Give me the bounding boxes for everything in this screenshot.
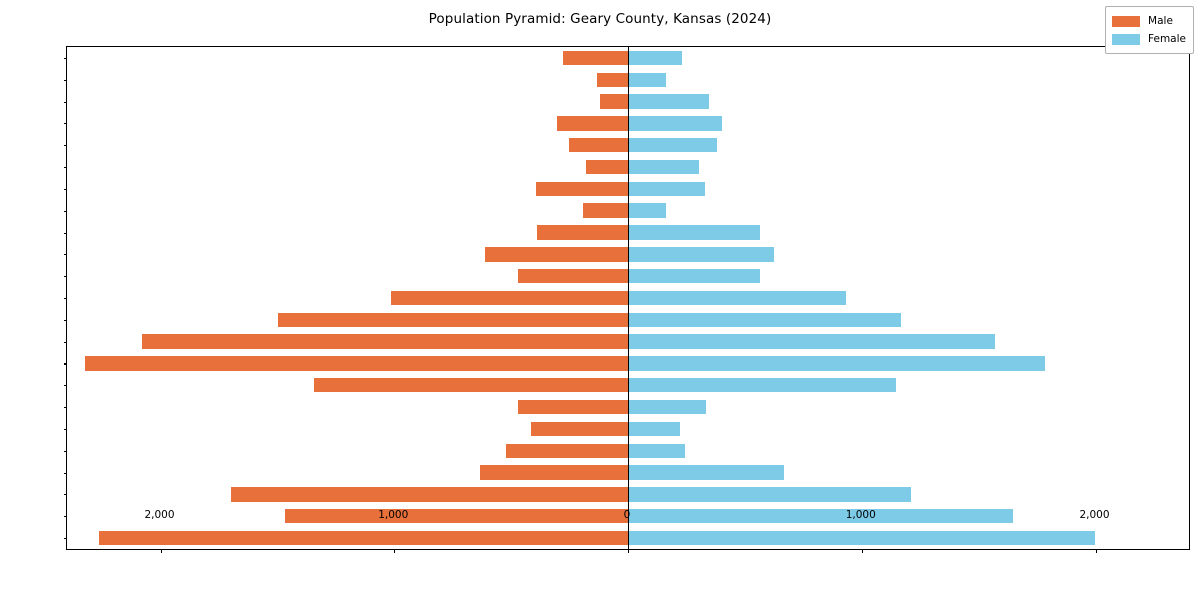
bar-female bbox=[628, 400, 706, 414]
bar-male bbox=[536, 182, 628, 196]
bar-male bbox=[285, 509, 628, 523]
plot-area bbox=[66, 46, 1190, 550]
bar-female bbox=[628, 487, 911, 501]
bar-male bbox=[597, 73, 628, 87]
legend-swatch-male-icon bbox=[1112, 16, 1140, 27]
bar-female bbox=[628, 225, 760, 239]
y-tick-mark bbox=[64, 516, 68, 517]
x-tick-mark bbox=[394, 549, 395, 553]
bar-male bbox=[600, 94, 628, 108]
y-tick-mark bbox=[64, 276, 68, 277]
bar-female bbox=[628, 291, 846, 305]
bar-male bbox=[99, 531, 628, 545]
bar-female bbox=[628, 313, 901, 327]
x-tick-label: 1,000 bbox=[378, 509, 408, 521]
legend-label-female: Female bbox=[1148, 33, 1186, 45]
bar-male bbox=[85, 356, 628, 370]
chart-title: Population Pyramid: Geary County, Kansas… bbox=[0, 11, 1200, 27]
y-tick-mark bbox=[64, 385, 68, 386]
legend: Male Female bbox=[1105, 6, 1194, 54]
bar-female bbox=[628, 422, 680, 436]
zero-axis-line bbox=[628, 47, 629, 549]
legend-entry-female: Female bbox=[1112, 30, 1186, 48]
bar-male bbox=[563, 51, 628, 65]
bar-female bbox=[628, 73, 666, 87]
bar-male bbox=[518, 400, 628, 414]
bar-male bbox=[142, 334, 628, 348]
y-tick-mark bbox=[64, 538, 68, 539]
bar-female bbox=[628, 334, 995, 348]
y-tick-mark bbox=[64, 473, 68, 474]
bar-male bbox=[518, 269, 628, 283]
y-tick-mark bbox=[64, 298, 68, 299]
bar-female bbox=[628, 465, 784, 479]
x-tick-mark bbox=[161, 549, 162, 553]
y-tick-mark bbox=[64, 211, 68, 212]
bar-female bbox=[628, 160, 699, 174]
figure-canvas: Population Pyramid: Geary County, Kansas… bbox=[0, 0, 1200, 600]
y-tick-mark bbox=[64, 145, 68, 146]
bar-male bbox=[278, 313, 628, 327]
legend-entry-male: Male bbox=[1112, 12, 1186, 30]
x-tick-label: 2,000 bbox=[144, 509, 174, 521]
bar-male bbox=[231, 487, 628, 501]
y-tick-mark bbox=[64, 102, 68, 103]
x-tick-label: 2,000 bbox=[1079, 509, 1109, 521]
bar-female bbox=[628, 509, 1013, 523]
bar-male bbox=[569, 138, 628, 152]
bar-male bbox=[586, 160, 628, 174]
y-tick-mark bbox=[64, 451, 68, 452]
y-tick-mark bbox=[64, 254, 68, 255]
bar-female bbox=[628, 94, 709, 108]
bar-female bbox=[628, 444, 685, 458]
y-tick-mark bbox=[64, 429, 68, 430]
bar-male bbox=[506, 444, 628, 458]
x-tick-label: 0 bbox=[624, 509, 631, 521]
x-tick-label: 1,000 bbox=[846, 509, 876, 521]
x-tick-mark bbox=[1096, 549, 1097, 553]
y-tick-mark bbox=[64, 342, 68, 343]
y-tick-mark bbox=[64, 123, 68, 124]
bar-female bbox=[628, 247, 774, 261]
y-tick-mark bbox=[64, 494, 68, 495]
bar-female bbox=[628, 269, 760, 283]
x-tick-mark bbox=[628, 549, 629, 553]
bar-female bbox=[628, 203, 666, 217]
y-tick-mark bbox=[64, 80, 68, 81]
y-tick-mark bbox=[64, 363, 68, 364]
y-tick-mark bbox=[64, 320, 68, 321]
y-tick-mark bbox=[64, 58, 68, 59]
bar-male bbox=[391, 291, 628, 305]
y-tick-mark bbox=[64, 189, 68, 190]
y-tick-mark bbox=[64, 167, 68, 168]
bar-male bbox=[557, 116, 628, 130]
bar-female bbox=[628, 138, 717, 152]
bar-male bbox=[537, 225, 628, 239]
bar-male bbox=[583, 203, 628, 217]
bar-male bbox=[314, 378, 628, 392]
legend-label-male: Male bbox=[1148, 15, 1173, 27]
legend-swatch-female-icon bbox=[1112, 34, 1140, 45]
bar-male bbox=[480, 465, 628, 479]
bar-female bbox=[628, 51, 682, 65]
bar-female bbox=[628, 116, 722, 130]
bar-female bbox=[628, 531, 1095, 545]
bar-female bbox=[628, 182, 705, 196]
y-tick-mark bbox=[64, 407, 68, 408]
x-tick-mark bbox=[862, 549, 863, 553]
bar-male bbox=[531, 422, 628, 436]
bar-female bbox=[628, 378, 896, 392]
bar-male bbox=[485, 247, 628, 261]
y-tick-mark bbox=[64, 233, 68, 234]
bar-female bbox=[628, 356, 1045, 370]
